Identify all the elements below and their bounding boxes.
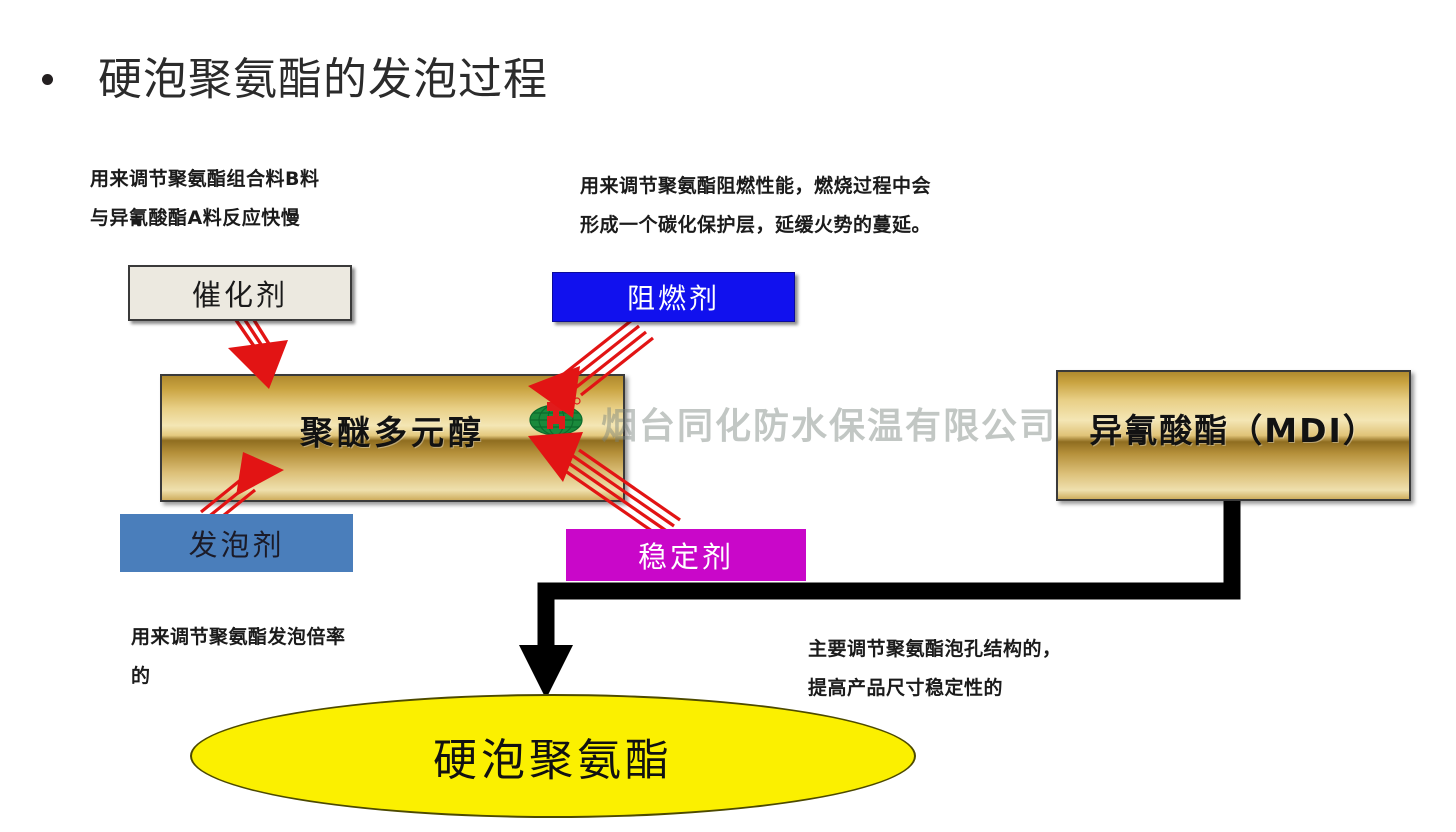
node-blowing-agent[interactable]: 发泡剂	[120, 514, 353, 572]
node-rigid-foam-product[interactable]: 硬泡聚氨酯	[190, 694, 916, 818]
node-isocyanate-mdi[interactable]: 异氰酸酯（MDI）	[1056, 370, 1411, 501]
note-catalyst-line2: 与异氰酸酯A料反应快慢	[90, 199, 319, 238]
node-flame-retardant-label: 阻燃剂	[627, 277, 720, 317]
node-blowing-agent-label: 发泡剂	[188, 522, 284, 564]
node-stabilizer-label: 稳定剂	[638, 534, 734, 576]
node-polyether-polyol-label: 聚醚多元醇	[300, 406, 485, 454]
node-catalyst[interactable]: 催化剂	[128, 265, 352, 321]
bullet-dot-icon	[42, 74, 53, 85]
node-polyether-polyol[interactable]: 聚醚多元醇	[160, 374, 625, 502]
note-blowing-agent: 用来调节聚氨酯发泡倍率 的	[131, 618, 346, 696]
page-title-text: 硬泡聚氨酯的发泡过程	[98, 56, 548, 104]
note-blowing-agent-line2: 的	[131, 657, 346, 696]
note-flame-retardant: 用来调节聚氨酯阻燃性能，燃烧过程中会 形成一个碳化保护层，延缓火势的蔓延。	[580, 167, 931, 245]
note-stabilizer: 主要调节聚氨酯泡孔结构的， 提高产品尺寸稳定性的	[808, 630, 1062, 708]
note-blowing-agent-line1: 用来调节聚氨酯发泡倍率	[131, 618, 346, 657]
node-rigid-foam-product-label: 硬泡聚氨酯	[433, 724, 673, 788]
slide-canvas: 硬泡聚氨酯的发泡过程 聚醚多元醇 异氰酸酯（MDI）	[0, 0, 1456, 832]
note-flame-retardant-line1: 用来调节聚氨酯阻燃性能，燃烧过程中会	[580, 167, 931, 206]
note-stabilizer-line1: 主要调节聚氨酯泡孔结构的，	[808, 630, 1062, 669]
note-catalyst: 用来调节聚氨酯组合料B料 与异氰酸酯A料反应快慢	[90, 160, 319, 238]
watermark-company-name: 烟台同化防水保温有限公司	[601, 397, 1057, 449]
node-catalyst-label: 催化剂	[192, 272, 288, 314]
note-flame-retardant-line2: 形成一个碳化保护层，延缓火势的蔓延。	[580, 206, 931, 245]
note-stabilizer-line2: 提高产品尺寸稳定性的	[808, 669, 1062, 708]
node-flame-retardant[interactable]: 阻燃剂	[552, 272, 795, 322]
node-isocyanate-mdi-label: 异氰酸酯（MDI）	[1089, 404, 1378, 452]
page-title: 硬泡聚氨酯的发泡过程	[42, 56, 548, 104]
note-catalyst-line1: 用来调节聚氨酯组合料B料	[90, 160, 319, 199]
node-stabilizer[interactable]: 稳定剂	[566, 529, 806, 581]
